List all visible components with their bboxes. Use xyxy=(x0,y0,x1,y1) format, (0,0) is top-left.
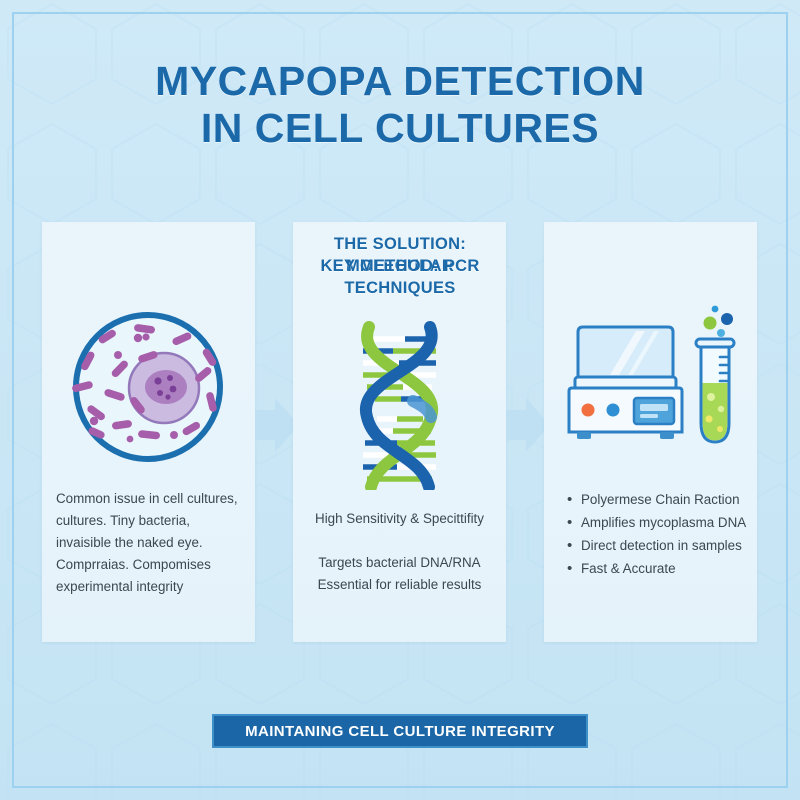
solution-body-spacer xyxy=(293,530,506,552)
list-item: Polyermese Chain Raction xyxy=(566,488,766,511)
card-body-key-method: Polyermese Chain Raction Amplifies mycop… xyxy=(566,488,766,580)
list-item: Direct detection in samples xyxy=(566,534,766,557)
card-body-the-problem: Common issue in cell cultures, cultures.… xyxy=(56,488,256,598)
solution-body-paragraph-2-line-1: Targets bacterial DNA/RNA xyxy=(293,552,506,574)
problem-body-line-4: Comprraias. Compomises xyxy=(56,554,256,576)
page-title-line-1: MYCAPOPA DETECTION xyxy=(0,58,800,105)
problem-body-line-2: cultures. Tiny bacteria, xyxy=(56,510,256,532)
cell-with-bacteria-icon xyxy=(42,305,255,470)
problem-body-line-1: Common issue in cell cultures, xyxy=(56,488,256,510)
problem-body-line-3: invaisible the naked eye. xyxy=(56,532,256,554)
solution-body-paragraph-2-line-2: Essential for reliable results xyxy=(293,574,506,596)
footer-banner: MAINTANING CELL CULTURE INTEGRITY xyxy=(212,714,588,748)
infographic-poster: MYCAPOPA DETECTION IN CELL CULTURES THE … xyxy=(0,0,800,800)
solution-body-paragraph-1: High Sensitivity & Specittifity xyxy=(293,508,506,530)
list-item: Amplifies mycoplasma DNA xyxy=(566,511,766,534)
dna-helix-icon xyxy=(293,315,506,490)
list-item: Fast & Accurate xyxy=(566,557,766,580)
problem-body-line-5: experimental integrity xyxy=(56,576,256,598)
page-title-line-2: IN CELL CULTURES xyxy=(0,105,800,152)
page-title: MYCAPOPA DETECTION IN CELL CULTURES xyxy=(0,58,800,152)
footer-banner-text: MAINTANING CELL CULTURE INTEGRITY xyxy=(245,723,555,740)
card-title-key-method: KEY METHOD: PCR xyxy=(8,255,792,277)
pcr-thermocycler-icon xyxy=(544,305,757,465)
card-body-the-solution: High Sensitivity & Specittifity Targets … xyxy=(293,508,506,596)
